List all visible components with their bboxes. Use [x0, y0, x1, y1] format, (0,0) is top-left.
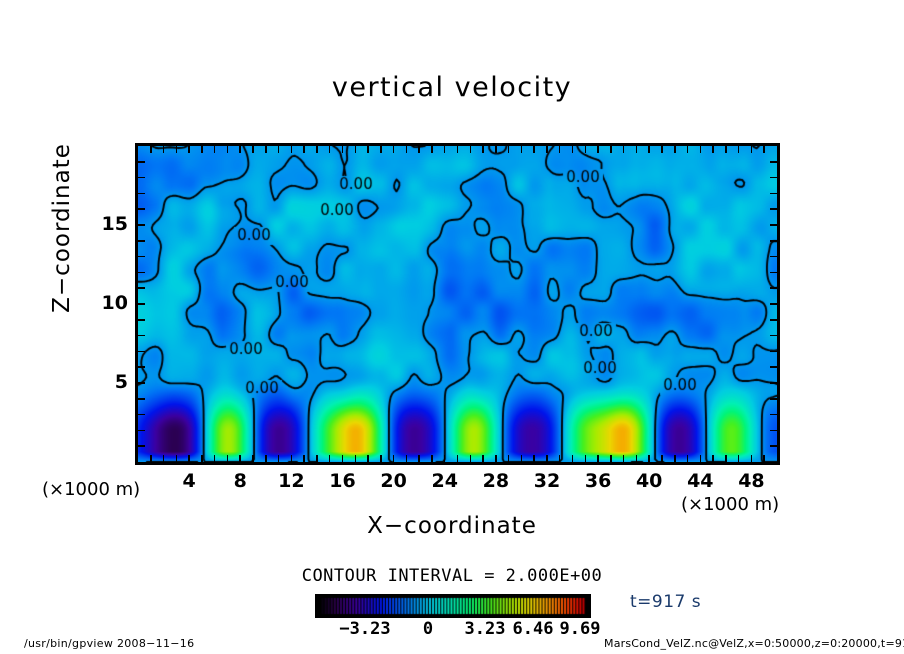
x-tick: [712, 455, 714, 462]
x-tick: [674, 455, 676, 462]
y-tick: [770, 445, 777, 447]
x-tick: [725, 146, 727, 153]
colorbar: [315, 594, 591, 618]
colorbar-gradient: [315, 594, 591, 618]
x-tick: [291, 455, 293, 462]
x-axis-title: X−coordinate: [0, 513, 904, 539]
x-tick: [610, 146, 612, 153]
x-tick: [521, 455, 523, 462]
x-tick-label-36: 36: [578, 470, 618, 492]
x-tick-label-40: 40: [629, 470, 669, 492]
x-tick: [572, 146, 574, 153]
x-tick: [265, 455, 267, 462]
x-tick: [636, 146, 638, 153]
x-tick: [700, 146, 702, 153]
y-tick: [138, 430, 145, 432]
contour-lines-canvas: [138, 146, 777, 462]
x-tick: [214, 455, 216, 462]
page-title: vertical velocity: [0, 72, 904, 103]
x-tick: [342, 455, 344, 462]
x-tick: [406, 455, 408, 462]
x-tick: [674, 146, 676, 153]
y-tick: [770, 414, 777, 416]
y-tick: [770, 224, 777, 226]
x-tick-label-4: 4: [169, 470, 209, 492]
x-tick-label-28: 28: [476, 470, 516, 492]
x-tick: [559, 455, 561, 462]
x-tick: [329, 146, 331, 153]
x-tick: [623, 455, 625, 462]
x-tick: [291, 146, 293, 153]
x-tick: [623, 146, 625, 153]
y-tick: [770, 382, 777, 384]
x-tick-label-48: 48: [731, 470, 771, 492]
time-label: t=917 s: [630, 592, 701, 612]
y-tick: [138, 177, 145, 179]
y-tick: [138, 256, 145, 258]
x-tick: [495, 455, 497, 462]
y-tick-label-15: 15: [92, 213, 128, 235]
x-tick: [380, 146, 382, 153]
x-tick: [150, 146, 152, 153]
x-tick: [457, 146, 459, 153]
x-tick: [252, 146, 254, 153]
x-tick: [508, 455, 510, 462]
x-tick: [687, 455, 689, 462]
x-tick: [457, 455, 459, 462]
y-tick: [770, 351, 777, 353]
y-tick: [138, 303, 145, 305]
x-tick: [546, 146, 548, 153]
x-tick: [763, 455, 765, 462]
x-tick: [431, 455, 433, 462]
x-tick: [150, 455, 152, 462]
x-tick-label-32: 32: [527, 470, 567, 492]
y-tick: [138, 366, 145, 368]
x-tick: [482, 455, 484, 462]
x-tick-label-24: 24: [425, 470, 465, 492]
x-tick: [572, 455, 574, 462]
x-tick: [367, 455, 369, 462]
x-tick: [380, 455, 382, 462]
x-tick: [597, 455, 599, 462]
y-tick: [770, 161, 777, 163]
x-tick-label-12: 12: [271, 470, 311, 492]
x-tick: [470, 455, 472, 462]
x-tick: [482, 146, 484, 153]
x-tick-label-8: 8: [220, 470, 260, 492]
x-tick: [521, 146, 523, 153]
x-unit-label-left: (×1000 m): [42, 479, 140, 500]
x-tick: [252, 455, 254, 462]
x-tick: [418, 455, 420, 462]
x-tick: [648, 455, 650, 462]
x-tick: [585, 146, 587, 153]
x-tick: [176, 455, 178, 462]
x-tick: [508, 146, 510, 153]
y-tick: [138, 335, 145, 337]
y-axis-title: Z−coordinate: [49, 128, 75, 328]
x-tick: [214, 146, 216, 153]
x-tick: [661, 146, 663, 153]
x-tick: [738, 455, 740, 462]
x-tick: [163, 455, 165, 462]
y-tick: [138, 287, 145, 289]
x-tick: [585, 455, 587, 462]
x-tick: [444, 146, 446, 153]
x-tick: [431, 146, 433, 153]
y-tick: [770, 256, 777, 258]
x-tick: [201, 455, 203, 462]
y-tick: [770, 272, 777, 274]
x-unit-label-right: (×1000 m): [681, 494, 779, 515]
y-tick: [138, 382, 145, 384]
footer-dataset: MarsCond_VelZ.nc@VelZ,x=0:50000,z=0:2000…: [604, 637, 904, 650]
colorbar-tick-label-4: 9.69: [550, 619, 610, 639]
x-tick: [559, 146, 561, 153]
x-tick: [227, 146, 229, 153]
x-tick: [393, 146, 395, 153]
x-tick: [201, 146, 203, 153]
y-tick: [770, 193, 777, 195]
x-tick: [278, 455, 280, 462]
y-tick: [770, 303, 777, 305]
x-tick: [239, 455, 241, 462]
y-tick: [770, 240, 777, 242]
colorbar-tick-label-0: −3.23: [335, 619, 395, 639]
x-tick: [342, 146, 344, 153]
x-tick: [763, 146, 765, 153]
y-tick: [770, 208, 777, 210]
y-tick: [138, 272, 145, 274]
y-tick: [770, 335, 777, 337]
y-tick: [138, 161, 145, 163]
x-tick: [751, 455, 753, 462]
y-tick: [770, 366, 777, 368]
x-tick: [316, 455, 318, 462]
x-tick: [533, 455, 535, 462]
x-tick: [355, 455, 357, 462]
x-tick: [355, 146, 357, 153]
x-tick: [712, 146, 714, 153]
x-tick: [367, 146, 369, 153]
x-tick: [610, 455, 612, 462]
x-tick: [418, 146, 420, 153]
contour-plot-area: [135, 143, 780, 465]
x-tick: [393, 455, 395, 462]
x-tick: [751, 146, 753, 153]
x-tick: [188, 146, 190, 153]
y-tick: [770, 319, 777, 321]
x-tick-label-44: 44: [680, 470, 720, 492]
y-tick: [770, 287, 777, 289]
footer-command: /usr/bin/gpview 2008−11−16: [24, 637, 194, 650]
x-tick: [687, 146, 689, 153]
y-tick: [770, 398, 777, 400]
y-tick: [138, 208, 145, 210]
x-tick: [495, 146, 497, 153]
x-tick: [188, 455, 190, 462]
x-tick: [303, 455, 305, 462]
x-tick: [227, 455, 229, 462]
x-tick: [648, 146, 650, 153]
y-tick: [138, 319, 145, 321]
y-tick: [138, 445, 145, 447]
x-tick: [316, 146, 318, 153]
x-tick: [239, 146, 241, 153]
x-tick: [406, 146, 408, 153]
x-tick-label-20: 20: [374, 470, 414, 492]
x-tick: [533, 146, 535, 153]
x-tick: [700, 455, 702, 462]
y-tick: [138, 193, 145, 195]
x-tick: [725, 455, 727, 462]
y-tick: [138, 351, 145, 353]
x-tick: [265, 146, 267, 153]
y-tick-label-10: 10: [92, 292, 128, 314]
x-tick: [738, 146, 740, 153]
y-tick: [138, 240, 145, 242]
x-tick: [303, 146, 305, 153]
x-tick: [444, 455, 446, 462]
x-tick: [163, 146, 165, 153]
y-tick: [138, 398, 145, 400]
x-tick: [278, 146, 280, 153]
colorbar-tick-label-1: 0: [398, 619, 458, 639]
x-tick: [546, 455, 548, 462]
x-tick: [597, 146, 599, 153]
x-tick: [661, 455, 663, 462]
x-tick-label-16: 16: [322, 470, 362, 492]
y-tick: [770, 430, 777, 432]
contour-interval-label: CONTOUR INTERVAL = 2.000E+00: [0, 566, 904, 586]
y-tick: [138, 414, 145, 416]
x-tick: [329, 455, 331, 462]
x-tick: [470, 146, 472, 153]
x-tick: [636, 455, 638, 462]
y-tick: [138, 224, 145, 226]
y-tick-label-5: 5: [92, 371, 128, 393]
x-tick: [176, 146, 178, 153]
y-tick: [770, 177, 777, 179]
